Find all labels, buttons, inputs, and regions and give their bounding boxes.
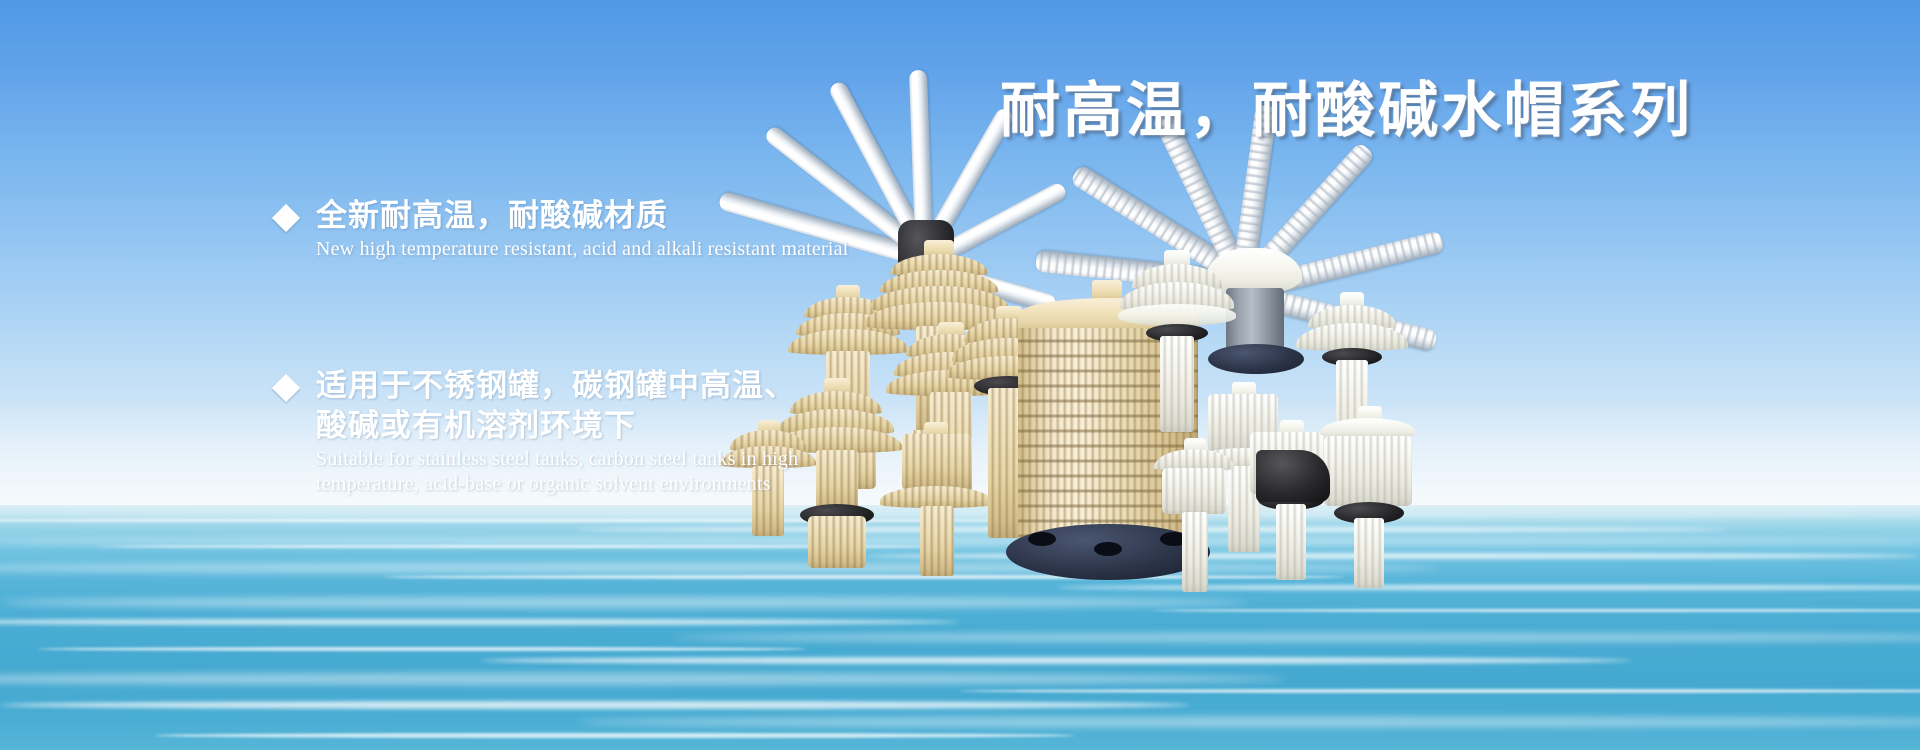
product-hero-banner: 耐高温，耐酸碱水帽系列 全新耐高温，耐酸碱材质 New high tempera… [0,0,1920,750]
feature-bullet-list: 全新耐高温，耐酸碱材质 New high temperature resista… [276,196,1056,497]
feature-bullet-2: 适用于不锈钢罐，碳钢罐中高温、 酸碱或有机溶剂环境下 Suitable for … [276,366,1056,497]
water-cap-nozzle-ivory-c [1144,438,1244,658]
page-title: 耐高温，耐酸碱水帽系列 [1000,62,1693,149]
diamond-bullet-icon [272,204,300,232]
feature-1-cn: 全新耐高温，耐酸碱材质 [316,196,668,236]
water-cap-nozzle-ivory-f [1310,406,1426,646]
diamond-bullet-icon [272,374,300,402]
feature-2-en: Suitable for stainless steel tanks, carb… [316,447,1056,497]
dark-valve-body [1256,450,1330,510]
feature-bullet-1: 全新耐高温，耐酸碱材质 New high temperature resista… [276,196,1056,262]
feature-2-cn: 适用于不锈钢罐，碳钢罐中高温、 酸碱或有机溶剂环境下 [316,366,796,446]
feature-1-en: New high temperature resistant, acid and… [316,237,1056,262]
